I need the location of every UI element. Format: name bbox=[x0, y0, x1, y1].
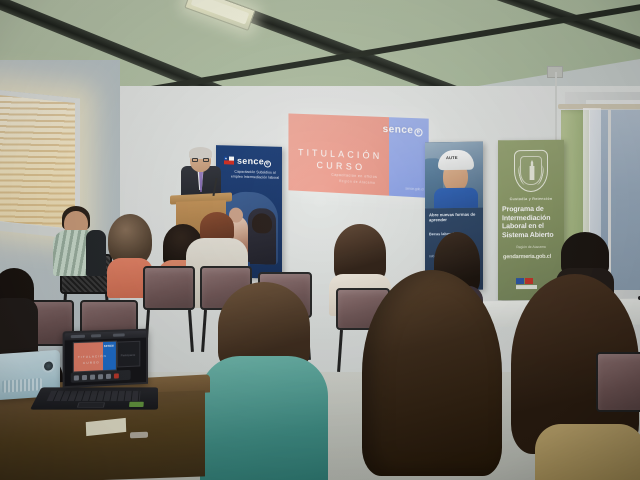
gendarmeria-crest-icon bbox=[514, 150, 548, 192]
projector-lens-icon bbox=[42, 359, 55, 373]
share-screen-icon[interactable] bbox=[90, 374, 95, 379]
sence-logo: sencee bbox=[383, 124, 423, 137]
audience-person bbox=[352, 270, 512, 480]
camera-icon[interactable] bbox=[82, 374, 87, 379]
worker-body bbox=[434, 188, 478, 209]
chair bbox=[596, 352, 640, 412]
audience-person bbox=[0, 268, 38, 348]
sence-logo-glyph: e bbox=[414, 128, 422, 136]
audience-person bbox=[54, 206, 98, 272]
cart-handle[interactable] bbox=[130, 432, 148, 439]
leave-call-icon[interactable] bbox=[114, 373, 119, 378]
laptop-keyboard[interactable] bbox=[47, 391, 141, 401]
conference-room-photo: sencee TITULACIÓN CURSO Capacitación en … bbox=[0, 0, 640, 480]
banner-sence-logo-text: sence bbox=[237, 156, 264, 167]
banner-sence-logo: sencee bbox=[237, 156, 271, 168]
participants-icon[interactable] bbox=[98, 374, 103, 379]
participant-name: Participante bbox=[121, 353, 135, 358]
speaker-glasses-icon bbox=[203, 158, 209, 162]
banner-green-title: Programa de Intermediación Laboral en el… bbox=[502, 206, 560, 241]
banner-blue-photo: AUTE bbox=[425, 142, 483, 209]
audience-person bbox=[200, 282, 328, 480]
banner-person-right bbox=[248, 208, 276, 265]
projected-slide: sencee TITULACIÓN CURSO Capacitación en … bbox=[288, 113, 428, 197]
laptop-screen[interactable]: sence TITULACIÓN CURSO Participante bbox=[63, 329, 148, 389]
chair bbox=[143, 266, 195, 310]
numpad-indicator bbox=[129, 402, 144, 407]
laptop-base[interactable] bbox=[30, 387, 158, 409]
banner-green-eyebrow: Custodia y Retención bbox=[498, 197, 564, 202]
chat-icon[interactable] bbox=[106, 373, 111, 378]
chile-flag-icon: ★ bbox=[224, 156, 234, 164]
shared-screen-region: sence TITULACIÓN CURSO bbox=[73, 341, 117, 373]
banner-green-url: gendarmeria.gob.cl bbox=[503, 254, 551, 260]
banner-sence-logo-glyph: e bbox=[264, 160, 271, 167]
banner-green-region: Región de Atacama bbox=[498, 245, 564, 250]
meeting-titlebar bbox=[65, 331, 146, 341]
wall-cable bbox=[555, 72, 557, 146]
participant-thumbnail[interactable]: Participante bbox=[117, 341, 140, 368]
banner-sence-subtitle: Capacitación Subsidios al empleo Interme… bbox=[230, 169, 280, 180]
projector-vents bbox=[2, 378, 42, 393]
helmet-label: AUTE bbox=[446, 155, 458, 160]
meeting-toolbar[interactable] bbox=[71, 370, 131, 383]
laptop-trackpad[interactable] bbox=[77, 402, 105, 407]
speaker-glasses-icon bbox=[192, 158, 198, 162]
laptop-sence-logo: sence bbox=[104, 344, 114, 348]
banner-blue-headline: Abre nuevas formas de aprender bbox=[429, 212, 479, 224]
sence-logo-text: sence bbox=[383, 124, 414, 136]
laptop-slide-line2: CURSO bbox=[83, 360, 100, 365]
mic-icon[interactable] bbox=[74, 375, 79, 380]
